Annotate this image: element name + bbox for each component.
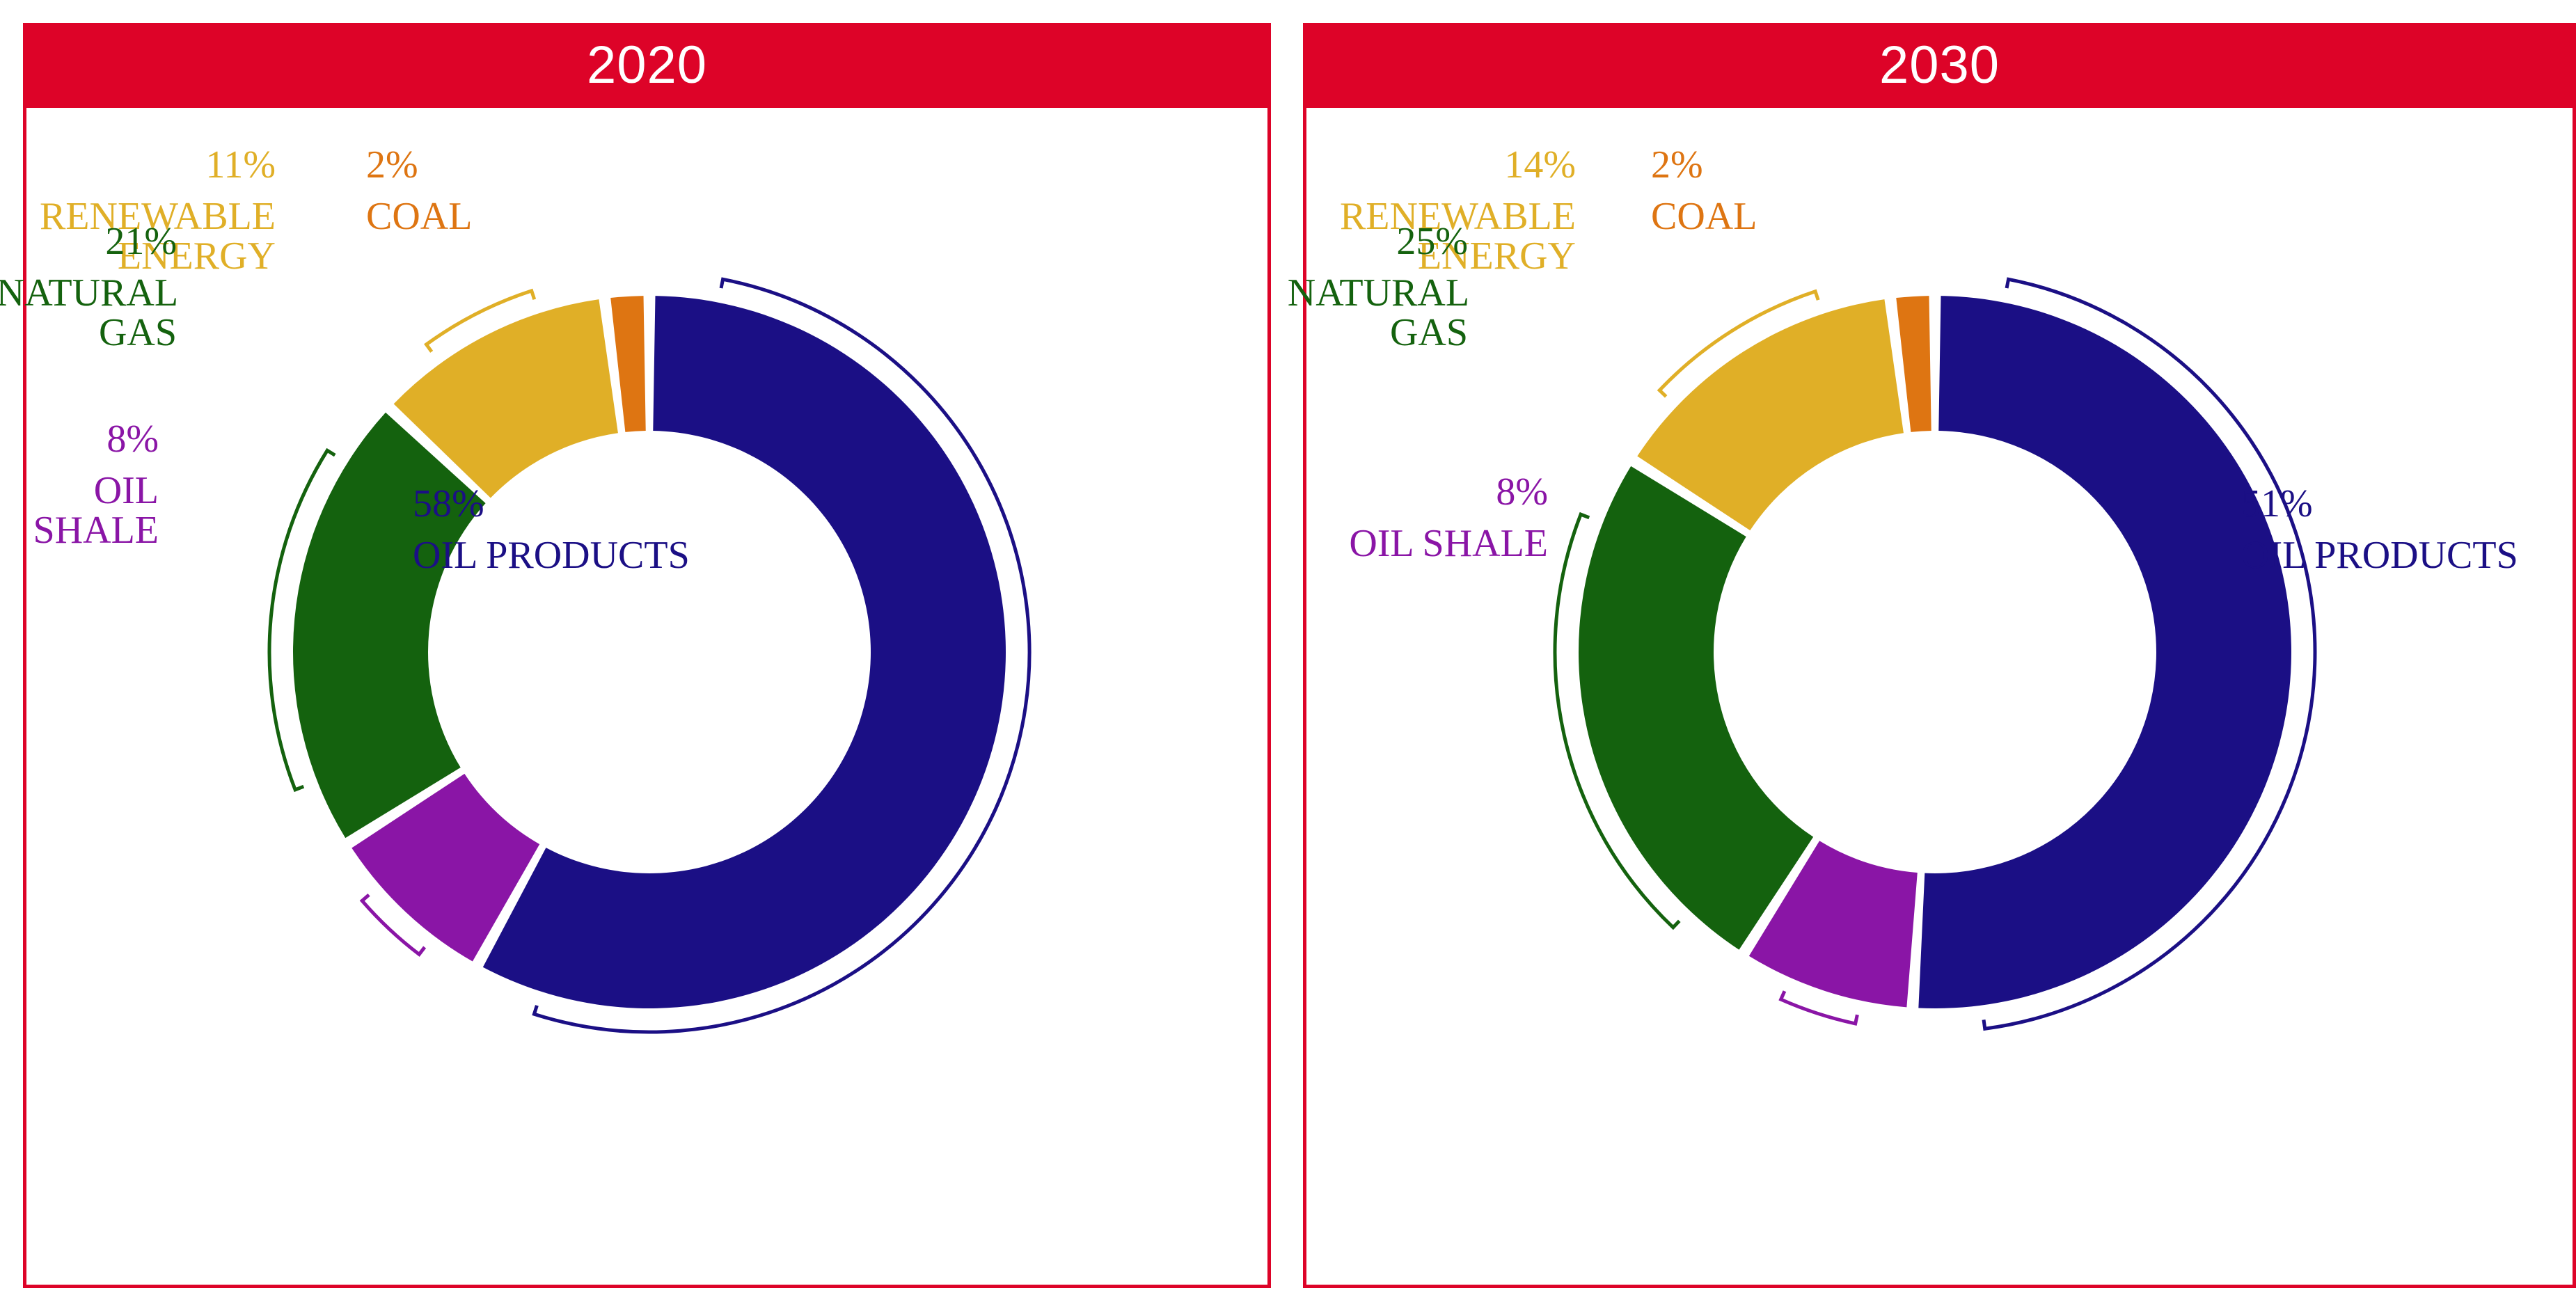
label-coal-2030-name: COAL xyxy=(1651,197,1757,237)
label-coal-2020-pct: 2% xyxy=(366,145,472,185)
donut-slice xyxy=(610,296,645,432)
label-oil-shale-2030: 8% OIL SHALE xyxy=(1349,461,1548,575)
panel-2030-body: 14% RENEWABLE ENERGY 2% COAL 25% NATURAL… xyxy=(1303,108,2576,1288)
panel-2020-body: 11% RENEWABLE ENERGY 2% COAL 21% NATURAL… xyxy=(23,108,1271,1288)
label-natural-gas-2030: 25% NATURAL GAS xyxy=(1288,211,1468,364)
label-coal-2020: 2% COAL xyxy=(366,134,472,248)
panel-2020: 2020 11% RENEWABLE ENERGY 2% COAL 21% xyxy=(23,23,1271,1288)
label-oil-products-2020-name: OIL PRODUCTS xyxy=(413,536,690,576)
label-oil-shale-2030-name: OIL SHALE xyxy=(1349,524,1548,564)
label-oil-shale-2020: 8% OIL SHALE xyxy=(23,408,159,562)
panel-2030: 2030 14% RENEWABLE ENERGY 2% COAL 25% xyxy=(1303,23,2576,1288)
label-natural-gas-2020-pct: 21% xyxy=(0,222,177,262)
label-natural-gas-2030-name: NATURAL GAS xyxy=(1288,273,1468,353)
label-coal-2030: 2% COAL xyxy=(1651,134,1757,248)
label-natural-gas-2020: 21% NATURAL GAS xyxy=(0,211,177,364)
donut-chart-2020: 11% RENEWABLE ENERGY 2% COAL 21% NATURAL… xyxy=(23,108,1271,1288)
label-coal-2030-pct: 2% xyxy=(1651,145,1757,185)
label-oil-shale-2020-pct: 8% xyxy=(23,420,159,459)
label-renewable-energy-2020-pct: 11% xyxy=(23,145,276,185)
label-renewable-energy-2030-pct: 14% xyxy=(1303,145,1576,185)
label-oil-shale-2020-name: OIL SHALE xyxy=(23,471,159,550)
donut-slice xyxy=(1918,296,2291,1008)
label-oil-products-2030-pct: 51% xyxy=(2241,484,2518,524)
label-natural-gas-2020-name: NATURAL GAS xyxy=(0,273,177,353)
donut-slice xyxy=(1896,296,1931,432)
label-oil-products-2030-name: OIL PRODUCTS xyxy=(2241,536,2518,576)
label-natural-gas-2030-pct: 25% xyxy=(1288,222,1468,262)
label-oil-products-2020: 58% OIL PRODUCTS xyxy=(413,473,690,587)
label-oil-products-2020-pct: 58% xyxy=(413,484,690,524)
infographic-root: 2020 11% RENEWABLE ENERGY 2% COAL 21% xyxy=(0,0,2576,1309)
donut-slice xyxy=(1579,466,1813,950)
donut-chart-2030: 14% RENEWABLE ENERGY 2% COAL 25% NATURAL… xyxy=(1303,108,2576,1288)
label-oil-products-2030: 51% OIL PRODUCTS xyxy=(2241,473,2518,587)
label-coal-2020-name: COAL xyxy=(366,197,472,237)
label-oil-shale-2030-pct: 8% xyxy=(1349,473,1548,512)
